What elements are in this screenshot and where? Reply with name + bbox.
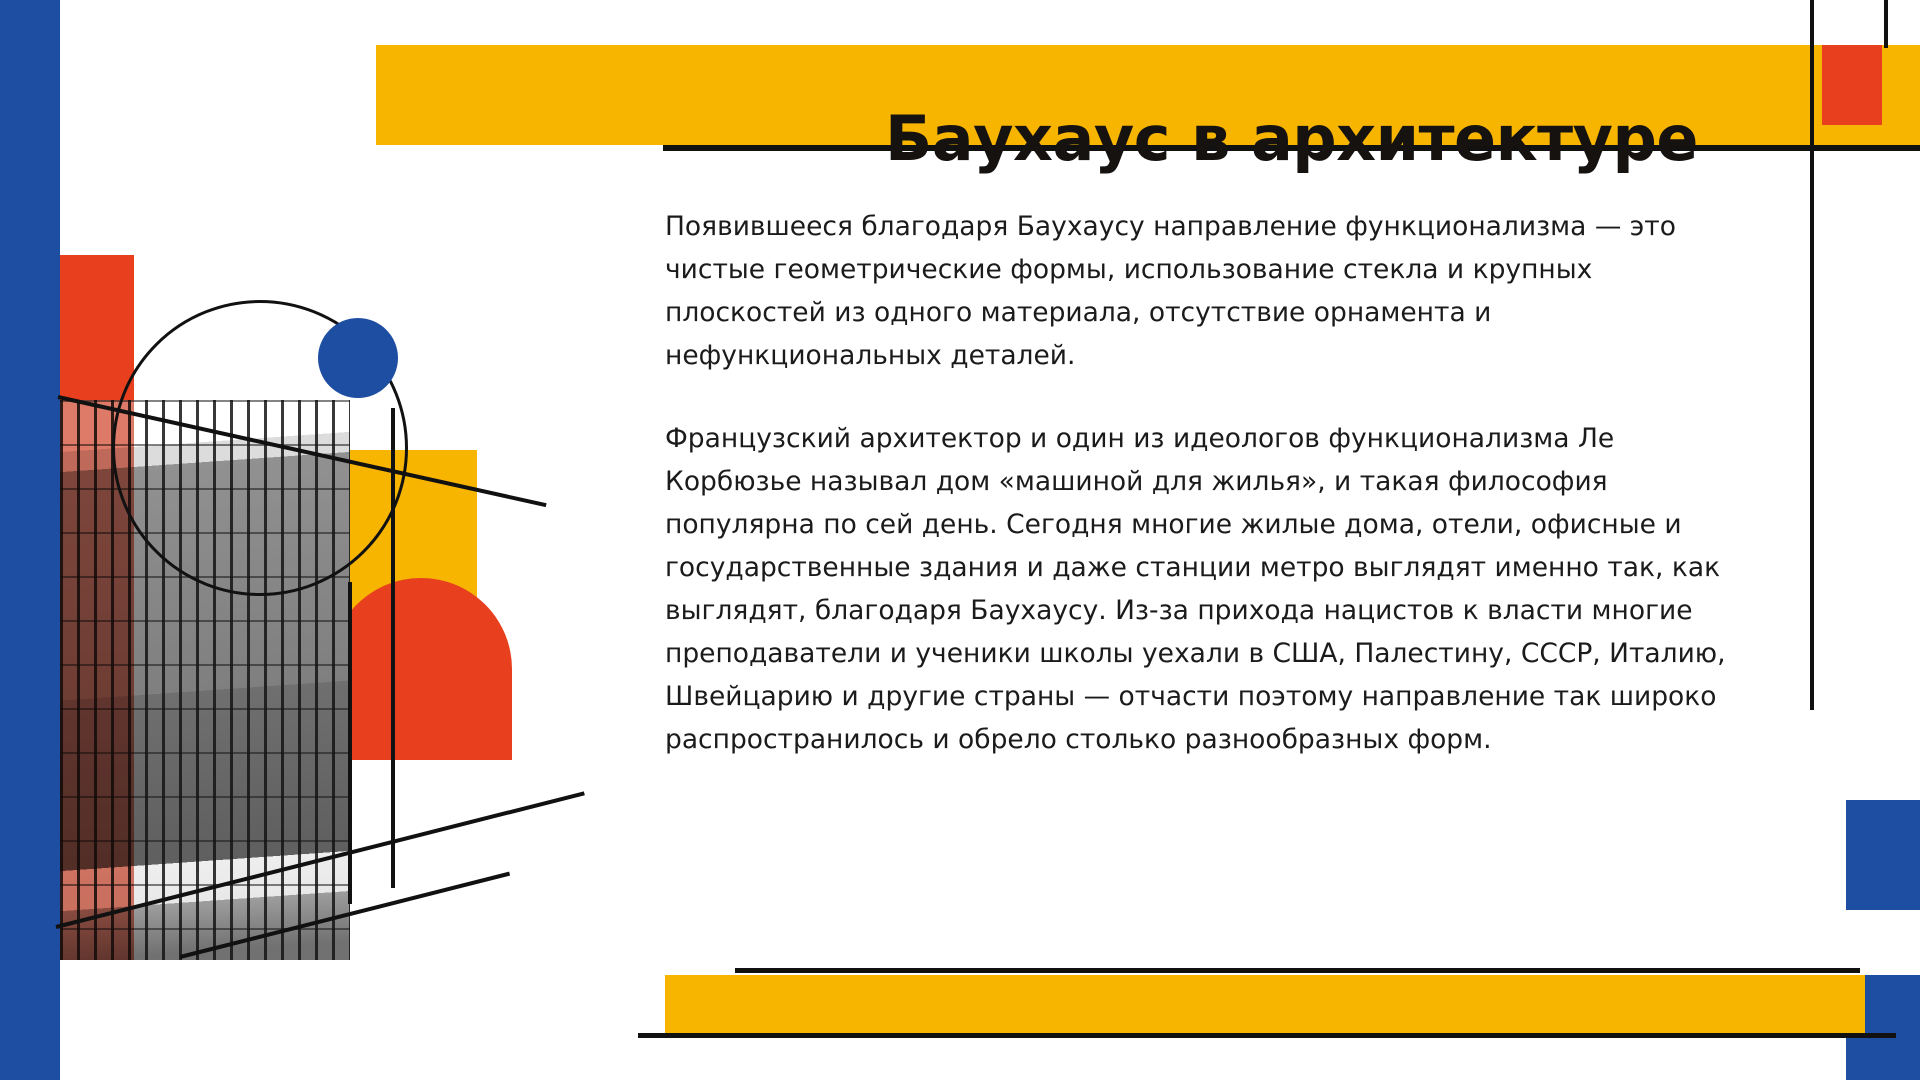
paragraph-1: Появившееся благодаря Баухаусу направлен… (665, 205, 1740, 377)
blue-filled-circle-shape (318, 318, 398, 398)
page-title: Баухаус в архитектуре (663, 94, 1920, 184)
body-text-block: Появившееся благодаря Баухаусу направлен… (665, 205, 1740, 761)
red-quarter-circle-shape (330, 578, 512, 760)
blue-vertical-bar-shape (0, 0, 60, 1080)
black-rule-above-bottom-band (735, 968, 1860, 973)
paragraph-2: Французский архитектор и один из идеолог… (665, 417, 1740, 761)
black-vertical-line-tall (391, 408, 395, 888)
blue-block-right-upper (1846, 800, 1920, 910)
decorative-collage (0, 0, 660, 1080)
black-vertical-line-short (348, 582, 352, 904)
slide-canvas: Баухаус в архитектуре Появившееся благод… (0, 0, 1920, 1080)
black-vertical-rule-right-short (1884, 0, 1888, 48)
black-rule-below-bottom-band (638, 1033, 1896, 1038)
yellow-bottom-band (665, 975, 1865, 1037)
black-vertical-rule-right-long (1810, 0, 1814, 710)
